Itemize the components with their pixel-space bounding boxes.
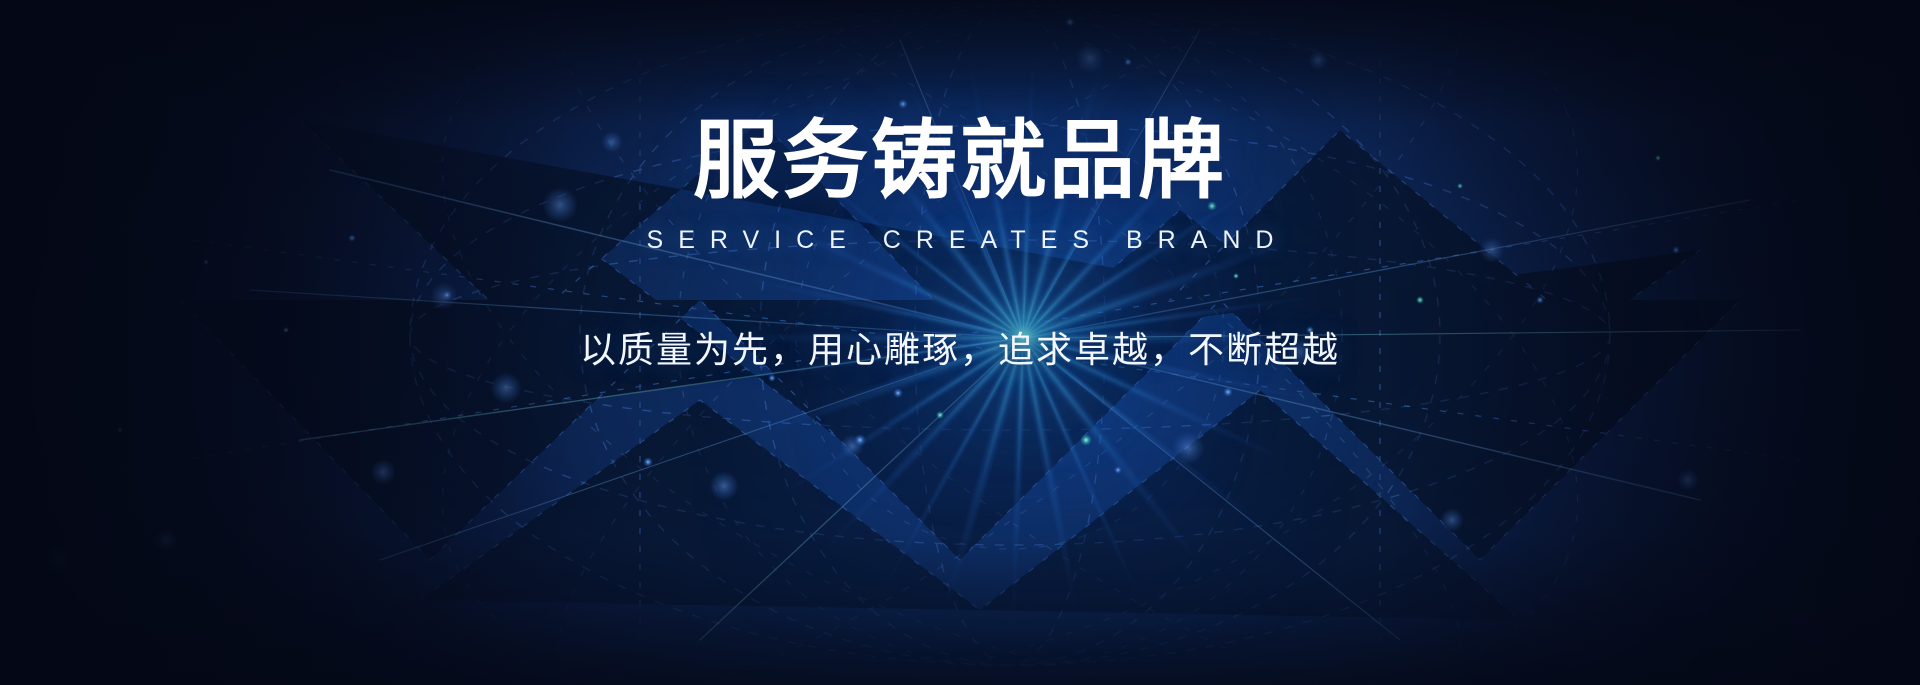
banner-subheadline-english: SERVICE CREATES BRAND	[0, 226, 1920, 255]
banner-tagline: 以质量为先，用心雕琢，追求卓越，不断超越	[0, 321, 1920, 373]
banner-headline: 服务铸就品牌	[0, 118, 1920, 204]
banner-text-block: 服务铸就品牌 SERVICE CREATES BRAND 以质量为先，用心雕琢，…	[0, 118, 1920, 373]
hero-banner: 服务铸就品牌 SERVICE CREATES BRAND 以质量为先，用心雕琢，…	[0, 0, 1920, 685]
